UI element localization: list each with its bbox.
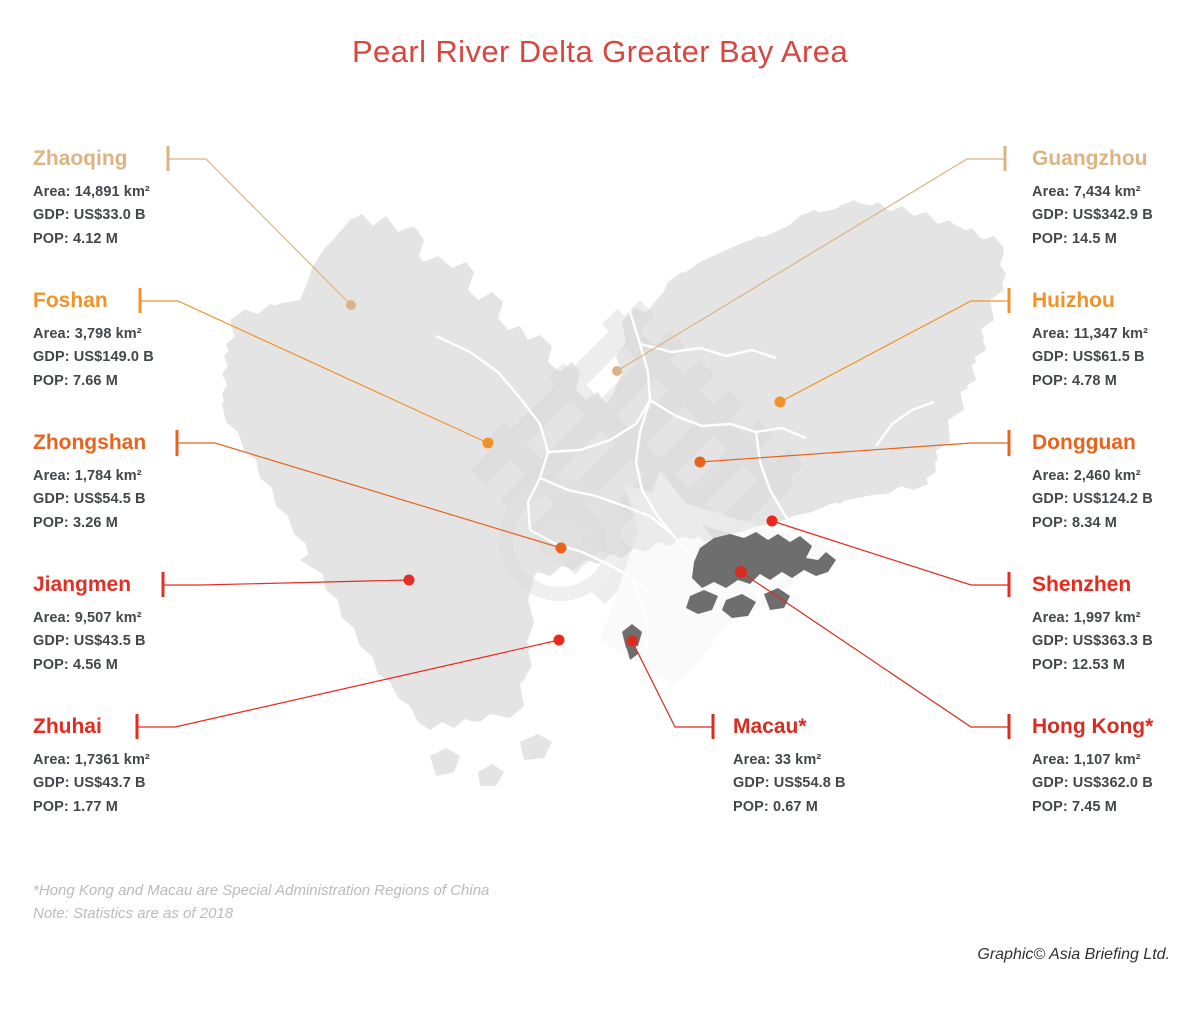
city-name-macau: Macau* bbox=[733, 716, 846, 737]
city-name-zhongshan: Zhongshan bbox=[33, 432, 146, 453]
city-card-hongkong[interactable]: Hong Kong* Area: 1,107 km² GDP: US$362.0… bbox=[1032, 716, 1153, 819]
city-pop-jiangmen: POP: 4.56 M bbox=[33, 654, 146, 677]
city-area-shenzhen: Area: 1,997 km² bbox=[1032, 607, 1153, 630]
city-pop-zhongshan: POP: 3.26 M bbox=[33, 512, 146, 535]
city-name-foshan: Foshan bbox=[33, 290, 154, 311]
city-card-zhongshan[interactable]: Zhongshan Area: 1,784 km² GDP: US$54.5 B… bbox=[33, 432, 146, 535]
city-card-huizhou[interactable]: Huizhou Area: 11,347 km² GDP: US$61.5 B … bbox=[1032, 290, 1148, 393]
pearl-river-delta-map bbox=[0, 0, 1200, 1015]
city-name-guangzhou: Guangzhou bbox=[1032, 148, 1153, 169]
credit-line: Graphic© Asia Briefing Ltd. bbox=[977, 946, 1170, 964]
city-area-dongguan: Area: 2,460 km² bbox=[1032, 465, 1153, 488]
city-area-guangzhou: Area: 7,434 km² bbox=[1032, 181, 1153, 204]
city-gdp-huizhou: GDP: US$61.5 B bbox=[1032, 346, 1148, 369]
city-card-zhaoqing[interactable]: Zhaoqing Area: 14,891 km² GDP: US$33.0 B… bbox=[33, 148, 150, 251]
city-gdp-macau: GDP: US$54.8 B bbox=[733, 772, 846, 795]
city-gdp-zhaoqing: GDP: US$33.0 B bbox=[33, 204, 150, 227]
city-card-zhuhai[interactable]: Zhuhai Area: 1,7361 km² GDP: US$43.7 B P… bbox=[33, 716, 150, 819]
city-pop-foshan: POP: 7.66 M bbox=[33, 370, 154, 393]
city-pop-shenzhen: POP: 12.53 M bbox=[1032, 654, 1153, 677]
city-area-huizhou: Area: 11,347 km² bbox=[1032, 323, 1148, 346]
city-pop-dongguan: POP: 8.34 M bbox=[1032, 512, 1153, 535]
city-pop-zhaoqing: POP: 4.12 M bbox=[33, 228, 150, 251]
city-card-jiangmen[interactable]: Jiangmen Area: 9,507 km² GDP: US$43.5 B … bbox=[33, 574, 146, 677]
city-gdp-jiangmen: GDP: US$43.5 B bbox=[33, 630, 146, 653]
city-area-jiangmen: Area: 9,507 km² bbox=[33, 607, 146, 630]
city-name-jiangmen: Jiangmen bbox=[33, 574, 146, 595]
city-pop-guangzhou: POP: 14.5 M bbox=[1032, 228, 1153, 251]
footnotes: *Hong Kong and Macau are Special Adminis… bbox=[33, 879, 489, 926]
city-name-dongguan: Dongguan bbox=[1032, 432, 1153, 453]
city-gdp-zhongshan: GDP: US$54.5 B bbox=[33, 488, 146, 511]
city-name-zhaoqing: Zhaoqing bbox=[33, 148, 150, 169]
city-area-hongkong: Area: 1,107 km² bbox=[1032, 749, 1153, 772]
city-card-shenzhen[interactable]: Shenzhen Area: 1,997 km² GDP: US$363.3 B… bbox=[1032, 574, 1153, 677]
infographic-root: Pearl River Delta Greater Bay Area bbox=[0, 0, 1200, 1015]
city-name-shenzhen: Shenzhen bbox=[1032, 574, 1153, 595]
city-gdp-foshan: GDP: US$149.0 B bbox=[33, 346, 154, 369]
city-area-macau: Area: 33 km² bbox=[733, 749, 846, 772]
city-pop-zhuhai: POP: 1.77 M bbox=[33, 796, 150, 819]
city-gdp-shenzhen: GDP: US$363.3 B bbox=[1032, 630, 1153, 653]
footnote-sar: *Hong Kong and Macau are Special Adminis… bbox=[33, 879, 489, 902]
city-area-foshan: Area: 3,798 km² bbox=[33, 323, 154, 346]
city-area-zhaoqing: Area: 14,891 km² bbox=[33, 181, 150, 204]
city-area-zhongshan: Area: 1,784 km² bbox=[33, 465, 146, 488]
city-pop-huizhou: POP: 4.78 M bbox=[1032, 370, 1148, 393]
city-pop-hongkong: POP: 7.45 M bbox=[1032, 796, 1153, 819]
city-gdp-guangzhou: GDP: US$342.9 B bbox=[1032, 204, 1153, 227]
footnote-year: Note: Statistics are as of 2018 bbox=[33, 902, 489, 925]
city-name-zhuhai: Zhuhai bbox=[33, 716, 150, 737]
city-gdp-zhuhai: GDP: US$43.7 B bbox=[33, 772, 150, 795]
city-area-zhuhai: Area: 1,7361 km² bbox=[33, 749, 150, 772]
city-pop-macau: POP: 0.67 M bbox=[733, 796, 846, 819]
city-name-huizhou: Huizhou bbox=[1032, 290, 1148, 311]
city-card-foshan[interactable]: Foshan Area: 3,798 km² GDP: US$149.0 B P… bbox=[33, 290, 154, 393]
city-gdp-hongkong: GDP: US$362.0 B bbox=[1032, 772, 1153, 795]
city-name-hongkong: Hong Kong* bbox=[1032, 716, 1153, 737]
city-card-dongguan[interactable]: Dongguan Area: 2,460 km² GDP: US$124.2 B… bbox=[1032, 432, 1153, 535]
city-card-guangzhou[interactable]: Guangzhou Area: 7,434 km² GDP: US$342.9 … bbox=[1032, 148, 1153, 251]
city-card-macau[interactable]: Macau* Area: 33 km² GDP: US$54.8 B POP: … bbox=[733, 716, 846, 819]
city-gdp-dongguan: GDP: US$124.2 B bbox=[1032, 488, 1153, 511]
